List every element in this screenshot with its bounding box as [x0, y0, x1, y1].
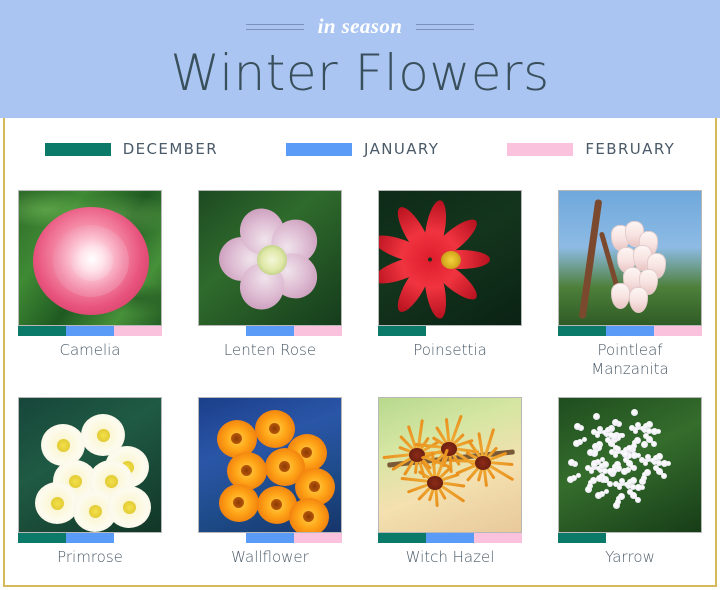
flower-name-label: Yarrow: [558, 548, 702, 567]
flower-name-line2: Manzanita: [591, 360, 668, 378]
legend-item-february: FEBRUARY: [507, 140, 675, 158]
season-bar-segment-january: [606, 326, 654, 336]
flower-card: PointleafManzanita: [558, 190, 702, 379]
season-bar-segment-february: [474, 533, 522, 543]
flower-card: Primrose: [18, 397, 162, 567]
season-bar-segment-january: [246, 326, 294, 336]
legend-label-january: JANUARY: [364, 140, 439, 158]
flower-photo-art: [379, 398, 521, 532]
flower-photo: [378, 397, 522, 533]
season-bar-segment-december: [378, 326, 426, 336]
flower-name-line1: Witch Hazel: [406, 548, 495, 566]
flower-card: Yarrow: [558, 397, 702, 567]
eyebrow-text: in season: [318, 16, 403, 37]
flower-card: Witch Hazel: [378, 397, 522, 567]
season-bar-segment-january: [66, 533, 114, 543]
season-bar-segment-february: [114, 533, 162, 543]
flower-photo: [558, 190, 702, 326]
season-bar-segment-february: [654, 326, 702, 336]
season-bar-segment-december: [198, 326, 246, 336]
season-bar-segment-january: [246, 533, 294, 543]
season-bar-segment-december: [18, 533, 66, 543]
flower-photo: [198, 190, 342, 326]
flower-photo-art: [199, 398, 341, 532]
flower-name-line1: Camelia: [59, 341, 120, 359]
season-bar: [558, 326, 702, 336]
flower-name-line1: Yarrow: [605, 548, 655, 566]
poster-header: in season Winter Flowers: [0, 0, 720, 118]
season-bar: [378, 326, 522, 336]
legend-item-january: JANUARY: [286, 140, 439, 158]
season-bar-segment-february: [294, 533, 342, 543]
flower-photo: [18, 190, 162, 326]
legend-label-december: DECEMBER: [123, 140, 218, 158]
season-bar: [198, 326, 342, 336]
flower-card: Camelia: [18, 190, 162, 379]
season-bar-segment-february: [294, 326, 342, 336]
flower-name-line1: Poinsettia: [413, 341, 487, 359]
season-bar-segment-january: [66, 326, 114, 336]
season-bar-segment-february: [114, 326, 162, 336]
season-bar-segment-february: [654, 533, 702, 543]
flower-name-label: PointleafManzanita: [558, 341, 702, 379]
flower-photo: [558, 397, 702, 533]
flower-photo-art: [379, 191, 521, 325]
flower-name-label: Poinsettia: [378, 341, 522, 360]
flower-photo: [198, 397, 342, 533]
flower-name-line1: Primrose: [57, 548, 123, 566]
flower-card: Poinsettia: [378, 190, 522, 379]
flower-card: Wallflower: [198, 397, 342, 567]
flower-name-line1: Wallflower: [231, 548, 309, 566]
infographic-poster: in season Winter Flowers DECEMBER JANUAR…: [0, 0, 720, 590]
flower-name-line1: Pointleaf: [597, 341, 662, 359]
legend-label-february: FEBRUARY: [585, 140, 675, 158]
flower-photo-art: [559, 398, 701, 532]
season-bar-segment-december: [558, 326, 606, 336]
flower-photo: [378, 190, 522, 326]
flower-photo-art: [19, 191, 161, 325]
flower-name-label: Primrose: [18, 548, 162, 567]
legend-item-december: DECEMBER: [45, 140, 218, 158]
legend-swatch-january: [286, 143, 352, 156]
season-bar: [18, 533, 162, 543]
season-bar: [198, 533, 342, 543]
legend-swatch-february: [507, 143, 573, 156]
season-bar-segment-december: [18, 326, 66, 336]
flower-name-label: Wallflower: [198, 548, 342, 567]
season-bar-segment-february: [474, 326, 522, 336]
flower-name-label: Witch Hazel: [378, 548, 522, 567]
season-bar: [378, 533, 522, 543]
flower-card-grid: CameliaLenten RosePoinsettiaPointleafMan…: [18, 190, 702, 585]
eyebrow-rule-left-icon: [246, 24, 304, 30]
legend-swatch-december: [45, 143, 111, 156]
season-bar-segment-december: [198, 533, 246, 543]
eyebrow-rule-right-icon: [416, 24, 474, 30]
flower-name-line1: Lenten Rose: [224, 341, 316, 359]
flower-photo-art: [19, 398, 161, 532]
flower-photo-art: [559, 191, 701, 325]
season-bar-segment-december: [558, 533, 606, 543]
season-bar: [18, 326, 162, 336]
eyebrow-row: in season: [0, 16, 720, 37]
season-bar-segment-december: [378, 533, 426, 543]
legend: DECEMBER JANUARY FEBRUARY: [0, 140, 720, 158]
season-bar: [558, 533, 702, 543]
season-bar-segment-january: [426, 533, 474, 543]
flower-name-label: Lenten Rose: [198, 341, 342, 360]
season-bar-segment-january: [606, 533, 654, 543]
flower-photo-art: [199, 191, 341, 325]
page-title: Winter Flowers: [0, 44, 720, 102]
flower-name-label: Camelia: [18, 341, 162, 360]
flower-card: Lenten Rose: [198, 190, 342, 379]
flower-photo: [18, 397, 162, 533]
season-bar-segment-january: [426, 326, 474, 336]
